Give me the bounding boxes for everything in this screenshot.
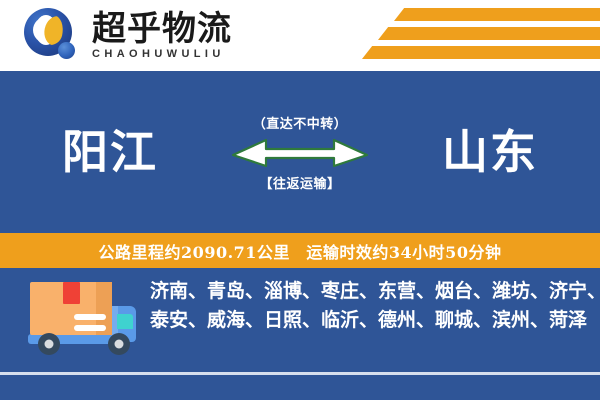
route-note-bottom: 【往返运输】 — [259, 173, 340, 192]
route-arrow-block: （直达不中转） 【往返运输】 — [210, 102, 390, 202]
coverage-line-1: 济南、青岛、淄博、枣庄、东营、烟台、潍坊、济宁、 — [150, 277, 586, 306]
route-note-top: （直达不中转） — [253, 113, 348, 132]
orange-diagonal-stripes-icon — [330, 8, 600, 64]
stripe-3 — [362, 46, 600, 59]
logo-dot-shape — [58, 42, 75, 59]
distance-duration-band: 公路里程约2090.71公里 运输时效约34小时50分钟 — [0, 233, 600, 268]
header-bar: 超乎物流 CHAOHUWULIU — [0, 0, 600, 71]
brand-name-cn: 超乎物流 — [92, 12, 232, 48]
route-section: 阳江 （直达不中转） 【往返运输】 山东 — [0, 71, 600, 233]
coverage-line-2: 泰安、威海、日照、临沂、德州、聊城、滨州、菏泽 — [150, 306, 586, 335]
brand-name-en: CHAOHUWULIU — [92, 48, 232, 60]
destination-city: 山东 — [390, 129, 590, 175]
stripe-2 — [378, 27, 600, 40]
circular-q-logo-icon — [22, 6, 84, 66]
brand-logo-block: 超乎物流 CHAOHUWULIU — [22, 6, 232, 66]
route-row: 阳江 （直达不中转） 【往返运输】 山东 — [0, 71, 600, 233]
distance-duration-text: 公路里程约2090.71公里 运输时效约34小时50分钟 — [99, 239, 502, 263]
bottom-divider — [0, 372, 600, 375]
delivery-truck-icon — [22, 276, 146, 362]
stripe-1 — [394, 8, 600, 21]
coverage-city-list: 济南、青岛、淄博、枣庄、东营、烟台、潍坊、济宁、 泰安、威海、日照、临沂、德州、… — [150, 277, 586, 334]
origin-city: 阳江 — [10, 129, 210, 175]
double-headed-arrow-icon — [230, 135, 370, 169]
coverage-section: 济南、青岛、淄博、枣庄、东营、烟台、潍坊、济宁、 泰安、威海、日照、临沂、德州、… — [0, 268, 600, 400]
logistics-route-poster: 超乎物流 CHAOHUWULIU 阳江 （直达不中转） 【往返运输】 山东 — [0, 0, 600, 400]
brand-text-block: 超乎物流 CHAOHUWULIU — [92, 12, 232, 61]
